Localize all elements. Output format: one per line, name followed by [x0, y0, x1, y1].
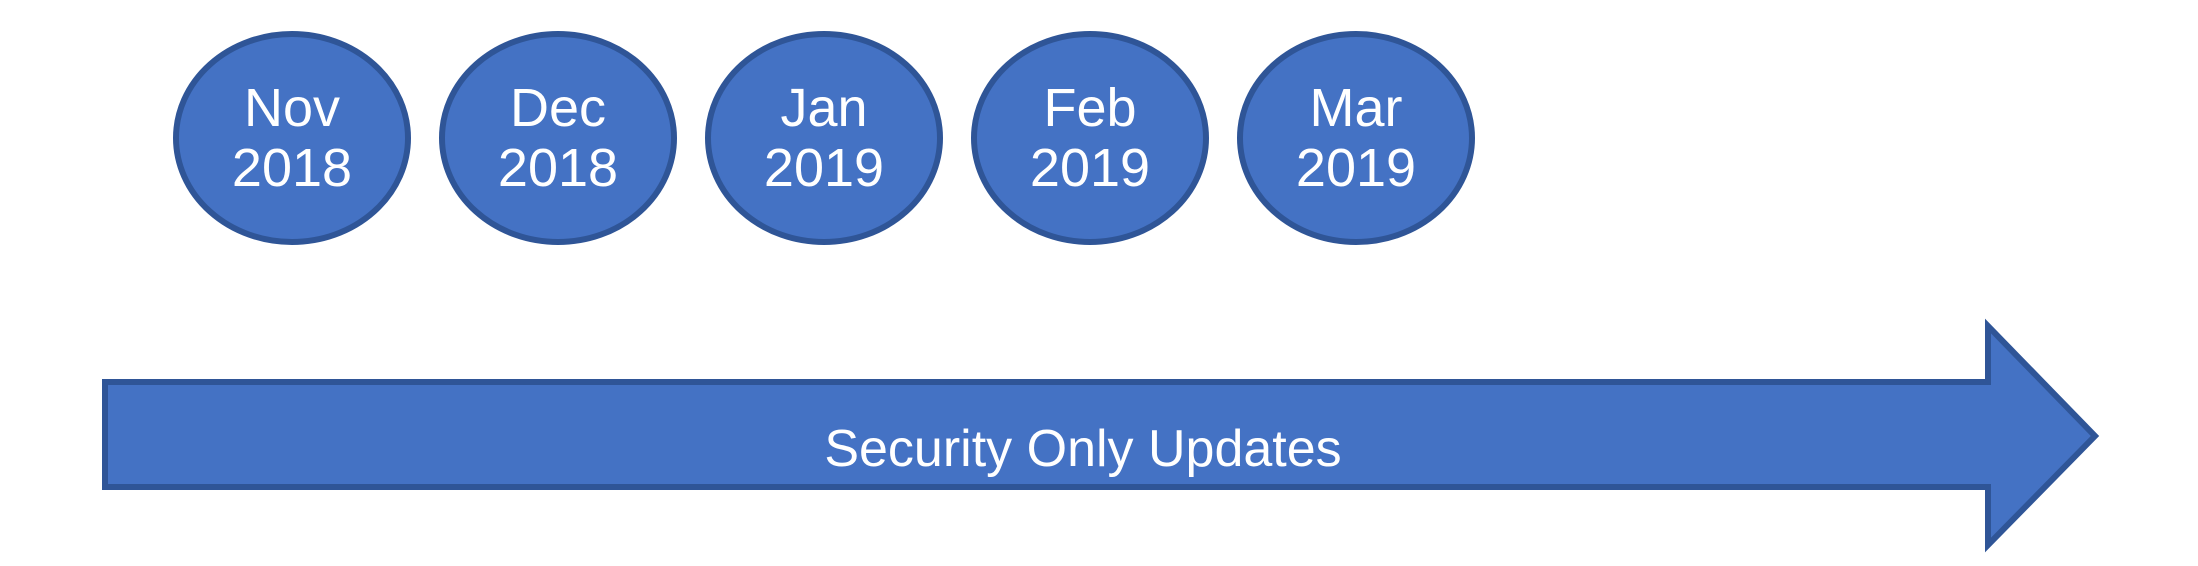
node-month-label: Mar [1310, 78, 1403, 138]
node-month-label: Jan [780, 78, 867, 138]
timeline-canvas: Nov 2018 Dec 2018 Jan 2019 Feb 2019 Mar … [0, 0, 2198, 566]
timeline-node-1[interactable]: Nov 2018 [176, 34, 408, 242]
node-year-label: 2019 [1296, 138, 1416, 198]
timeline-node-3[interactable]: Jan 2019 [708, 34, 940, 242]
timeline-node-5[interactable]: Mar 2019 [1240, 34, 1472, 242]
node-month-label: Nov [244, 78, 340, 138]
arrow-label: Security Only Updates [824, 420, 1341, 478]
timeline-node-4[interactable]: Feb 2019 [974, 34, 1206, 242]
node-month-label: Dec [510, 78, 606, 138]
node-year-label: 2019 [764, 138, 884, 198]
node-year-label: 2019 [1030, 138, 1150, 198]
node-year-label: 2018 [498, 138, 618, 198]
timeline-diagram: Nov 2018 Dec 2018 Jan 2019 Feb 2019 Mar … [0, 0, 2198, 566]
node-year-label: 2018 [232, 138, 352, 198]
node-month-label: Feb [1043, 78, 1136, 138]
timeline-node-2[interactable]: Dec 2018 [442, 34, 674, 242]
security-updates-arrow[interactable]: Security Only Updates [105, 326, 2095, 545]
